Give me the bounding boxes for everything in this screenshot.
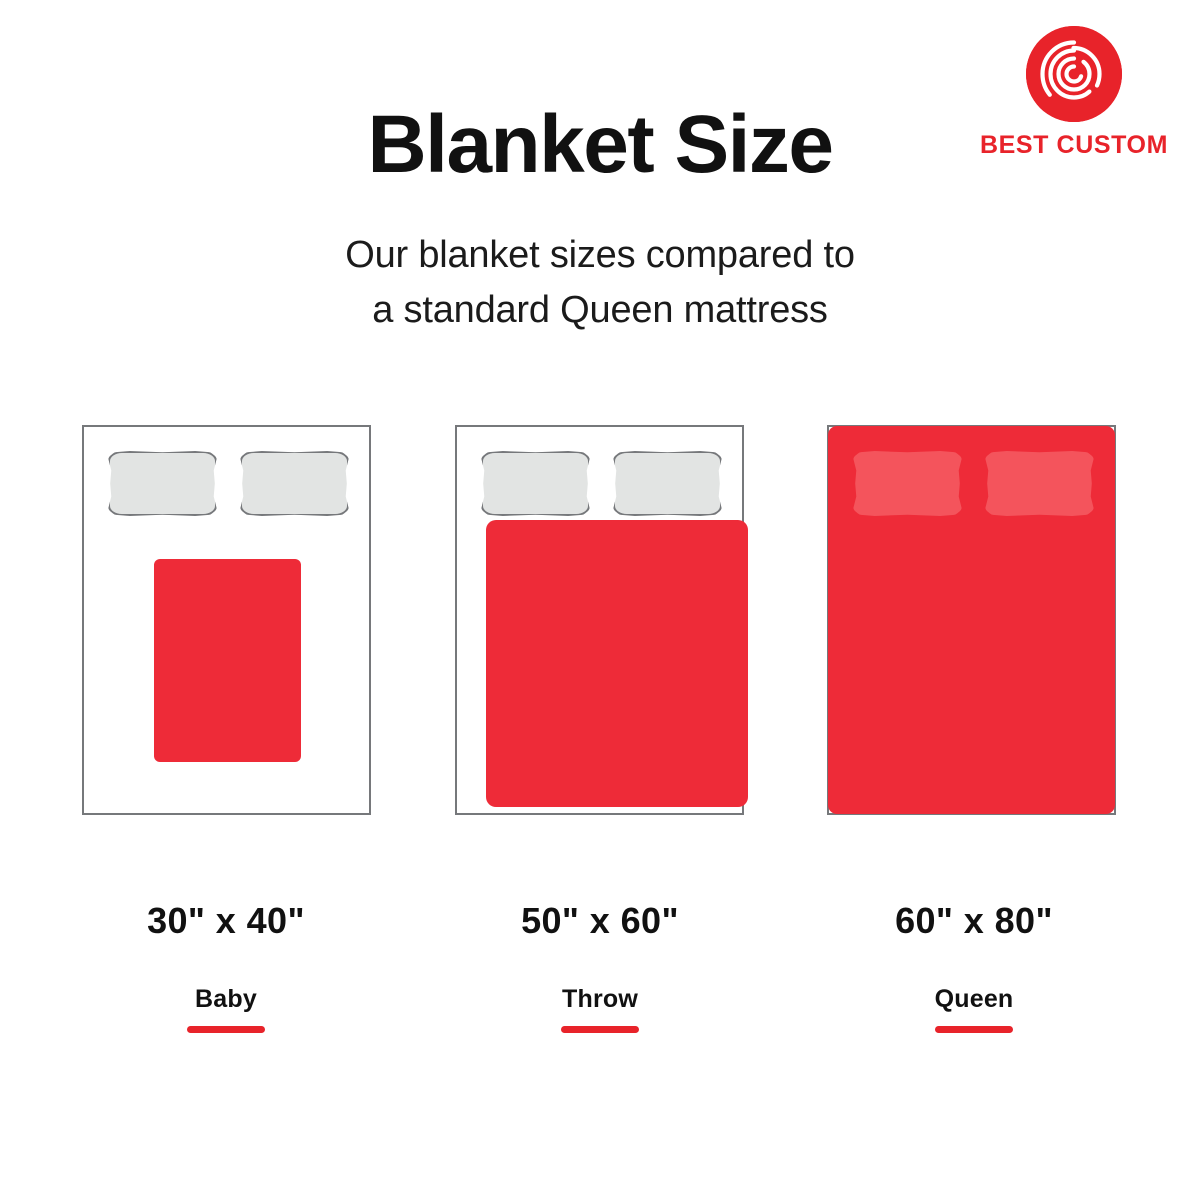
page-title: Blanket Size xyxy=(0,104,1200,186)
bed-diagram-throw xyxy=(455,425,744,815)
accent-underline xyxy=(187,1026,265,1033)
dimensions-label: 60" x 80" xyxy=(824,900,1124,942)
subtitle-line-1: Our blanket sizes compared to xyxy=(0,228,1200,283)
bed-comparison-row xyxy=(0,425,1200,820)
blanket-swatch-baby xyxy=(154,559,301,762)
subtitle-line-2: a standard Queen mattress xyxy=(0,283,1200,338)
pillow-icon xyxy=(853,451,962,516)
size-name-label: Throw xyxy=(450,985,750,1014)
accent-underline xyxy=(935,1026,1013,1033)
dimensions-label: 50" x 60" xyxy=(450,900,750,942)
pillow-icon xyxy=(613,451,722,516)
pillow-icon xyxy=(481,451,590,516)
bed-caption-row: 30" x 40" Baby 50" x 60" Throw 60" x 80"… xyxy=(0,900,1200,1040)
caption-queen: 60" x 80" Queen xyxy=(824,900,1124,1033)
bed-diagram-queen xyxy=(827,425,1116,815)
dimensions-label: 30" x 40" xyxy=(76,900,376,942)
pillow-icon xyxy=(240,451,349,516)
pillow-icon xyxy=(108,451,217,516)
caption-throw: 50" x 60" Throw xyxy=(450,900,750,1033)
blanket-swatch-throw xyxy=(486,520,748,807)
blanket-size-infographic: BEST CUSTOM Blanket Size Our blanket siz… xyxy=(0,0,1200,1200)
bed-diagram-baby xyxy=(82,425,371,815)
page-subtitle: Our blanket sizes compared to a standard… xyxy=(0,228,1200,337)
pillow-icon xyxy=(985,451,1094,516)
size-name-label: Baby xyxy=(76,985,376,1014)
size-name-label: Queen xyxy=(824,985,1124,1014)
caption-baby: 30" x 40" Baby xyxy=(76,900,376,1033)
accent-underline xyxy=(561,1026,639,1033)
